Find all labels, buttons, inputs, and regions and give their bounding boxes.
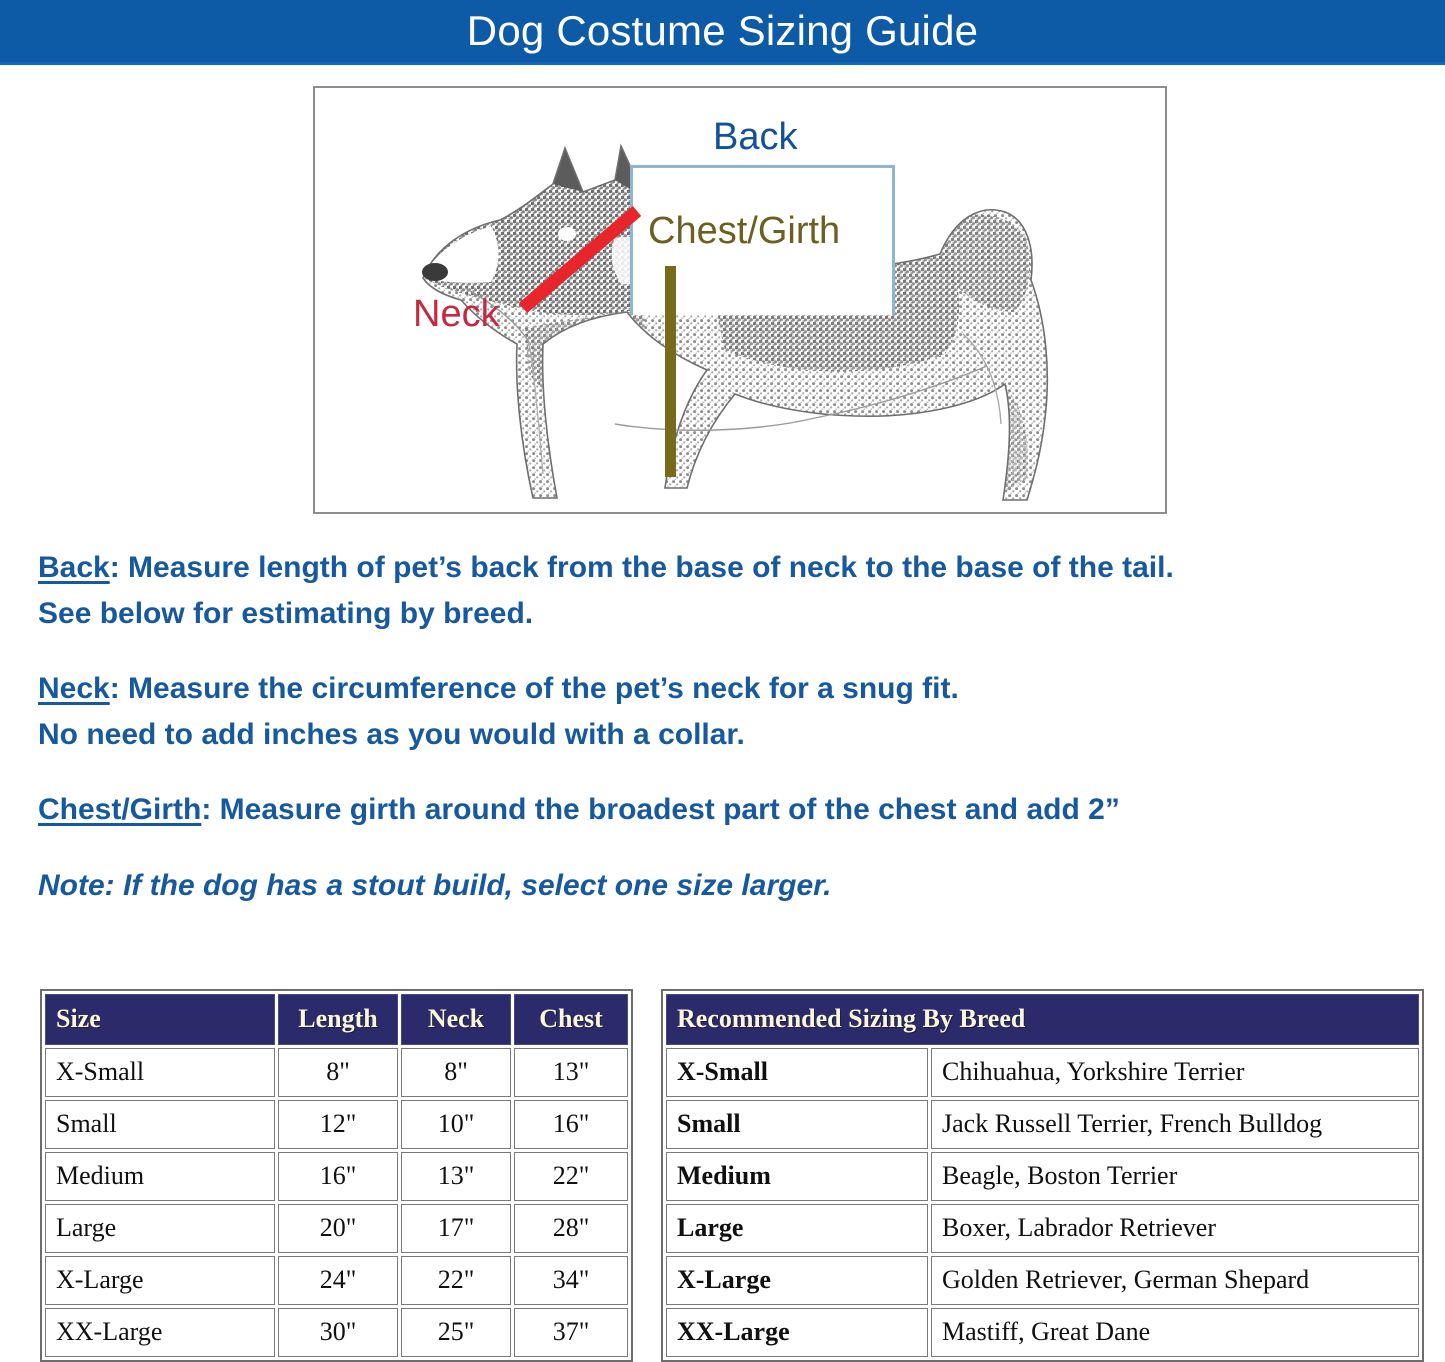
table-header-row: Recommended Sizing By Breed	[666, 994, 1419, 1045]
column-header-length: Length	[278, 994, 398, 1045]
cell-chest: 34"	[514, 1256, 628, 1305]
cell-neck: 17"	[401, 1204, 511, 1253]
table-row: X-Large Golden Retriever, German Shepard	[666, 1256, 1419, 1305]
instruction-line: Note: If the dog has a stout build, sele…	[38, 863, 1398, 909]
instruction-text: : Measure girth around the broadest part…	[201, 793, 1119, 826]
instruction-line: Chest/Girth: Measure girth around the br…	[38, 787, 1398, 833]
cell-breed-names: Jack Russell Terrier, French Bulldog	[931, 1100, 1419, 1149]
table-row: Large 20" 17" 28"	[45, 1204, 628, 1253]
cell-length: 16"	[278, 1152, 398, 1201]
instruction-line: Neck: Measure the circumference of the p…	[38, 666, 1398, 712]
instruction-line: See below for estimating by breed.	[38, 591, 1398, 637]
cell-chest: 16"	[514, 1100, 628, 1149]
instruction-term: Back	[38, 551, 110, 584]
page-title: Dog Costume Sizing Guide	[467, 10, 978, 52]
column-header-size: Size	[45, 994, 275, 1045]
table-row: Medium 16" 13" 22"	[45, 1152, 628, 1201]
chest-label: Chest/Girth	[648, 210, 840, 253]
table-row: XX-Large Mastiff, Great Dane	[666, 1308, 1419, 1357]
dog-measurement-diagram: Back Chest/Girth Neck	[313, 86, 1167, 514]
cell-breed-size: X-Large	[666, 1256, 928, 1305]
chest-measurement-line	[665, 266, 676, 477]
cell-breed-size: X-Small	[666, 1048, 928, 1097]
cell-breed-names: Golden Retriever, German Shepard	[931, 1256, 1419, 1305]
neck-label: Neck	[413, 293, 500, 336]
header-banner: Dog Costume Sizing Guide	[0, 0, 1445, 62]
instruction-term: Neck	[38, 672, 110, 705]
cell-neck: 13"	[401, 1152, 511, 1201]
size-chart-table: Size Length Neck Chest X-Small 8" 8" 13"…	[40, 989, 633, 1362]
cell-neck: 8"	[401, 1048, 511, 1097]
table-row: X-Small Chihuahua, Yorkshire Terrier	[666, 1048, 1419, 1097]
cell-breed-size: Large	[666, 1204, 928, 1253]
cell-size: X-Large	[45, 1256, 275, 1305]
instruction-text: : Measure length of pet’s back from the …	[110, 551, 1174, 584]
instruction-back: Back: Measure length of pet’s back from …	[38, 545, 1398, 636]
cell-breed-size: XX-Large	[666, 1308, 928, 1357]
size-chart-table-wrapper: Size Length Neck Chest X-Small 8" 8" 13"…	[40, 989, 633, 1362]
instruction-text: : Measure the circumference of the pet’s…	[110, 672, 959, 705]
header-divider	[0, 62, 1445, 65]
instruction-line: Back: Measure length of pet’s back from …	[38, 545, 1398, 591]
instruction-line: No need to add inches as you would with …	[38, 712, 1398, 758]
cell-chest: 37"	[514, 1308, 628, 1357]
cell-neck: 25"	[401, 1308, 511, 1357]
cell-breed-names: Boxer, Labrador Retriever	[931, 1204, 1419, 1253]
cell-chest: 28"	[514, 1204, 628, 1253]
cell-size: Small	[45, 1100, 275, 1149]
table-row: Medium Beagle, Boston Terrier	[666, 1152, 1419, 1201]
table-row: X-Small 8" 8" 13"	[45, 1048, 628, 1097]
cell-length: 30"	[278, 1308, 398, 1357]
breed-chart-table: Recommended Sizing By Breed X-Small Chih…	[661, 989, 1424, 1362]
cell-length: 8"	[278, 1048, 398, 1097]
cell-size: Medium	[45, 1152, 275, 1201]
cell-length: 12"	[278, 1100, 398, 1149]
cell-size: XX-Large	[45, 1308, 275, 1357]
cell-breed-names: Chihuahua, Yorkshire Terrier	[931, 1048, 1419, 1097]
cell-size: X-Small	[45, 1048, 275, 1097]
instruction-neck: Neck: Measure the circumference of the p…	[38, 666, 1398, 757]
cell-neck: 22"	[401, 1256, 511, 1305]
cell-size: Large	[45, 1204, 275, 1253]
table-header-row: Size Length Neck Chest	[45, 994, 628, 1045]
cell-length: 20"	[278, 1204, 398, 1253]
instruction-note: Note: If the dog has a stout build, sele…	[38, 863, 1398, 909]
cell-chest: 13"	[514, 1048, 628, 1097]
table-row: Small Jack Russell Terrier, French Bulld…	[666, 1100, 1419, 1149]
breed-chart-table-wrapper: Recommended Sizing By Breed X-Small Chih…	[661, 989, 1424, 1362]
cell-breed-names: Beagle, Boston Terrier	[931, 1152, 1419, 1201]
table-row: X-Large 24" 22" 34"	[45, 1256, 628, 1305]
cell-breed-size: Medium	[666, 1152, 928, 1201]
cell-breed-names: Mastiff, Great Dane	[931, 1308, 1419, 1357]
column-header-neck: Neck	[401, 994, 511, 1045]
measuring-instructions: Back: Measure length of pet’s back from …	[38, 545, 1398, 909]
table-row: Small 12" 10" 16"	[45, 1100, 628, 1149]
table-row: Large Boxer, Labrador Retriever	[666, 1204, 1419, 1253]
table-row: XX-Large 30" 25" 37"	[45, 1308, 628, 1357]
breed-table-title: Recommended Sizing By Breed	[666, 994, 1419, 1045]
cell-length: 24"	[278, 1256, 398, 1305]
cell-chest: 22"	[514, 1152, 628, 1201]
cell-breed-size: Small	[666, 1100, 928, 1149]
cell-neck: 10"	[401, 1100, 511, 1149]
column-header-chest: Chest	[514, 994, 628, 1045]
instruction-chest: Chest/Girth: Measure girth around the br…	[38, 787, 1398, 833]
instruction-term: Chest/Girth	[38, 793, 201, 826]
